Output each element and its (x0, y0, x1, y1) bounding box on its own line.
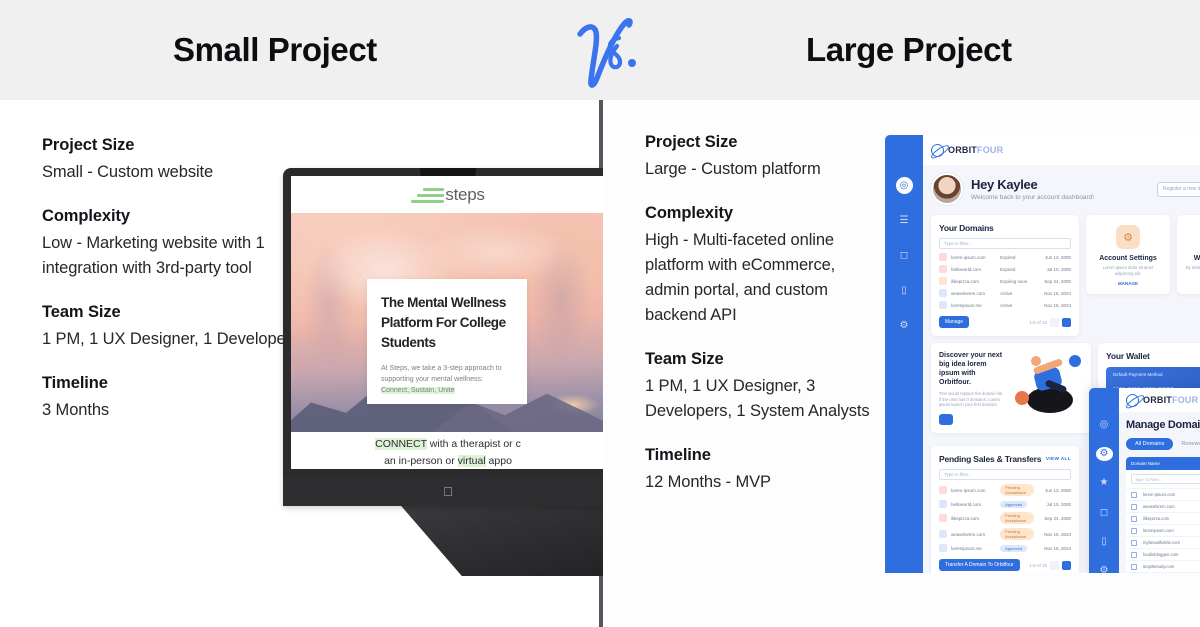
hero-paragraph: At Steps, we take a 3-step approach to s… (381, 363, 513, 396)
card-title: Your Domains (939, 223, 1071, 233)
manage-sidebar: ◎ ⚙ ★ ◻ ▯ ⚙ (1089, 388, 1119, 573)
domain-search-input[interactable]: Register a new domain (1157, 182, 1200, 197)
domain-status-icon (939, 544, 947, 552)
spec-label: Complexity (42, 207, 292, 226)
domain-date: Nov 16, 2024 (1038, 291, 1071, 296)
domain-date: Nov 16, 2024 (1038, 546, 1071, 551)
domain-name: weaselorem.com (1143, 504, 1200, 509)
tile-body: Lorem ipsum dolor sit amet adipiscing el… (1094, 265, 1162, 277)
table-row[interactable]: helloworld.com Expired Jul 10, 2000 (939, 265, 1071, 273)
table-row[interactable]: foodiebloggen.comPending Exp (1126, 548, 1200, 560)
brand-name-primary: ORBIT (1143, 395, 1172, 405)
your-domains-card: Your Domains Type to filter... lorem-ips… (931, 215, 1079, 336)
table-row[interactable]: ilikepizza.com Pending Acceptance Sep 24… (939, 512, 1071, 524)
domain-status-icon (939, 486, 947, 494)
row-checkbox[interactable] (1131, 540, 1137, 546)
manage-button[interactable]: Manage (939, 316, 969, 328)
table-row[interactable]: lorem-ipsum.com Pending Acceptance Jun 1… (939, 484, 1071, 496)
table-row[interactable]: mybeautifulsite.comActive (1126, 536, 1200, 548)
pagination: 1-5 of 10 (1029, 561, 1071, 570)
domain-name: weaselorem.com (951, 291, 996, 296)
dashboard-mockup: ◎ ☰ ◻ ▯ ⚙ ORBITFOUR (885, 135, 1200, 573)
table-row[interactable]: loremipsum.me Active Nov 16, 2024 (939, 301, 1071, 309)
row-checkbox[interactable] (1131, 552, 1137, 558)
lower-line2-a: an in-person or (384, 455, 458, 467)
domain-date: Jun 12, 2000 (1038, 255, 1071, 260)
spec-block-team-size: Team Size 1 PM, 1 UX Designer, 3 Develop… (645, 350, 875, 424)
gear-icon[interactable]: ⚙ (1096, 447, 1113, 460)
imac-screen: steps The Mental Wellness Platform For C… (291, 176, 605, 469)
row-checkbox[interactable] (1131, 528, 1137, 534)
spec-label: Team Size (645, 350, 875, 369)
domain-name: ilikepizza.com (1143, 516, 1200, 521)
site-hero: The Mental Wellness Platform For College… (291, 213, 605, 432)
brand-name-secondary: FOUR (1172, 395, 1198, 405)
site-lower-section: CONNECT with a therapist or c an in-pers… (291, 432, 605, 469)
domain-status-icon (939, 265, 947, 273)
greeting-row: Hey Kaylee Welcome back to your account … (931, 173, 1200, 205)
name-filter-input[interactable]: Type To Filter... (1131, 474, 1200, 484)
domain-name: ilikepizza.com (951, 279, 996, 284)
spec-value: 1 PM, 1 UX Designer, 1 Developer (42, 327, 292, 352)
status-badge: Pending Acceptance (1000, 484, 1034, 496)
domain-name: lorem-ipsum.com (951, 488, 996, 493)
table-row[interactable]: helloworld.com Approved Jul 10, 2000 (939, 500, 1071, 508)
domain-status: Expiring soon (1000, 279, 1034, 284)
chat-icon[interactable]: ◻ (1096, 506, 1113, 519)
promo-cta-button[interactable] (939, 414, 953, 425)
domain-date: Nov 16, 2024 (1038, 532, 1071, 537)
tile-body: By default, domain privacy is turned off… (1185, 265, 1200, 277)
table-row[interactable]: loremipsum.me Approved Nov 16, 2024 (939, 544, 1071, 552)
blue-ball-shape (1069, 355, 1081, 367)
domain-status-icon (939, 253, 947, 261)
imac-stand (393, 504, 608, 576)
imac-mockup: steps The Mental Wellness Platform For C… (283, 168, 613, 582)
domain-status-icon (939, 530, 947, 538)
orange-ball-shape (1015, 391, 1029, 405)
view-all-link[interactable]: VIEW ALL (1046, 457, 1071, 462)
domain-name: lorem-ipsum.com (1143, 492, 1200, 497)
manage-link[interactable]: MANAGE (1094, 281, 1162, 286)
tab-renewals[interactable]: Renewals (1181, 441, 1200, 447)
spec-label: Team Size (42, 303, 292, 322)
domain-name: ilikepizza.com (951, 516, 996, 521)
hero-heading: The Mental Wellness Platform For College… (381, 293, 513, 353)
spec-value: Low - Marketing website with 1 integrati… (42, 231, 292, 281)
large-project-title: Large Project (806, 31, 1012, 69)
status-badge: Approved (1000, 545, 1027, 552)
apple-logo-icon:  (443, 485, 453, 498)
spec-block-project-size: Project Size Large - Custom platform (645, 133, 875, 182)
card-footer: Transfer A Domain To Orbitfour 1-5 of 10 (939, 559, 1071, 571)
card-title: Your Wallet (1106, 351, 1200, 361)
spec-block-complexity: Complexity High - Multi-faceted online p… (645, 204, 875, 328)
row-checkbox[interactable] (1131, 492, 1137, 498)
table-row[interactable]: weaselorem.comActive (1126, 500, 1200, 512)
next-page-button[interactable] (1062, 561, 1071, 570)
manage-domains-table: Domain Name Status Type To Filter... Fil… (1126, 457, 1200, 573)
wheel-shape (1027, 387, 1073, 413)
status-badge: Pending Acceptance (1000, 528, 1034, 540)
domain-status-icon (939, 277, 947, 285)
domain-status: Expired (1000, 255, 1034, 260)
imac-chin:  (283, 477, 613, 506)
virtual-highlight: virtual (458, 455, 486, 467)
greeting-title: Hey Kaylee (971, 177, 1094, 192)
steps-logo: steps (411, 185, 484, 205)
small-project-column: Project Size Small - Custom website Comp… (0, 100, 599, 627)
pending-sales-card: Pending Sales & Transfers VIEW ALL Type … (931, 446, 1079, 573)
prev-page-button[interactable] (1050, 318, 1059, 327)
cyclist-illustration (1009, 351, 1083, 413)
domain-status-icon (939, 500, 947, 508)
dashboard-sidebar: ◎ ☰ ◻ ▯ ⚙ (885, 135, 923, 573)
spec-label: Complexity (645, 204, 875, 223)
pagination-label: 1-5 of 10 (1029, 320, 1047, 325)
user-avatar (931, 173, 963, 205)
hero-paragraph-line1: At Steps, we take a 3-step approach to (381, 365, 502, 372)
chat-icon[interactable]: ◻ (896, 247, 913, 264)
dashboard-icon[interactable]: ◎ (896, 177, 913, 194)
manage-link[interactable]: MANAGE (1185, 281, 1200, 286)
tab-all-domains[interactable]: All Domains (1126, 438, 1173, 450)
steps-logo-word: steps (445, 185, 484, 205)
globe-icon[interactable]: ★ (1096, 477, 1113, 490)
spec-label: Timeline (42, 374, 292, 393)
spec-value: 3 Months (42, 398, 292, 423)
domain-date: Jul 10, 2000 (1038, 502, 1071, 507)
comparison-page: Small Project Large Project Project Size… (0, 0, 1200, 627)
table-row[interactable]: stopitsready.comActive (1126, 560, 1200, 572)
manage-content: Manage Domains All Domains Renewals Tran… (1119, 412, 1200, 573)
domain-name: foodiebloggen.com (1143, 552, 1200, 557)
domains-filter-input[interactable]: Type to filter... (939, 238, 1071, 249)
orbit-ring-icon (929, 142, 945, 158)
table-filters: Type To Filter... Filter (1126, 470, 1200, 488)
domain-date: Sep 24, 2000 (1038, 279, 1071, 284)
domain-name: stopitsready.com (1143, 564, 1200, 569)
small-project-title: Small Project (173, 31, 377, 69)
pagination: 1-5 of 10 (1029, 318, 1071, 327)
hero-highlights: Connect, Sustain, Unite (381, 387, 455, 394)
connect-highlight: CONNECT (375, 438, 427, 450)
large-project-specs: Project Size Large - Custom platform Com… (645, 133, 875, 495)
table-row[interactable]: loremipsum.comExpiring Soon (1126, 524, 1200, 536)
stairs-icon (411, 188, 445, 205)
domain-name: loremipsum.me (951, 303, 996, 308)
row-checkbox[interactable] (1131, 564, 1137, 570)
vs-script-icon (566, 8, 646, 92)
spec-value: High - Multi-faceted online platform wit… (645, 228, 875, 328)
small-project-specs: Project Size Small - Custom website Comp… (42, 136, 292, 423)
card-footer: Manage 1-5 of 10 (939, 316, 1071, 328)
greeting-subtitle: Welcome back to your account dashboard! (971, 194, 1094, 201)
spec-block-timeline: Timeline 3 Months (42, 374, 292, 423)
status-badge: Approved (1000, 501, 1027, 508)
settings-icon[interactable]: ⚙ (1096, 565, 1113, 573)
rider-head-shape (1031, 356, 1041, 366)
domain-date: Sep 24, 2000 (1038, 516, 1071, 521)
imac-bezel: steps The Mental Wellness Platform For C… (283, 168, 613, 506)
spec-label: Timeline (645, 446, 875, 465)
pending-filter-input[interactable]: Type to filter... (939, 469, 1071, 480)
wallet-icon[interactable]: ▯ (1096, 535, 1113, 548)
manage-domains-window: ◎ ⚙ ★ ◻ ▯ ⚙ ORBITFOUR Manage (1089, 388, 1200, 573)
dashboard-window: ◎ ☰ ◻ ▯ ⚙ ORBITFOUR (885, 135, 1200, 573)
domain-status: Active (1000, 291, 1034, 296)
orbitfour-logo[interactable]: ORBITFOUR (931, 144, 1003, 157)
dashboard-icon[interactable]: ◎ (1096, 418, 1113, 431)
spec-block-complexity: Complexity Low - Marketing website with … (42, 207, 292, 281)
domain-name: helloworld.com (951, 267, 996, 272)
tile-title: Whois Settings (1185, 255, 1200, 262)
table-row[interactable]: weaselorem.com Active Nov 16, 2024 (939, 289, 1071, 297)
promo-body: This would replace the domain list if th… (939, 391, 1005, 408)
domain-name: mybeautifulsite.com (1143, 540, 1200, 545)
domain-date: Jun 12, 2000 (1038, 488, 1071, 493)
dashboard-grid-top: Your Domains Type to filter... lorem-ips… (931, 215, 1200, 336)
table-row[interactable]: lorem-ipsum.com Expired Jun 12, 2000 (939, 253, 1071, 261)
column-domain-name: Domain Name (1131, 461, 1200, 466)
spec-label: Project Size (645, 133, 875, 152)
domain-name: loremipsum.me (951, 546, 996, 551)
status-badge: Pending Acceptance (1000, 512, 1034, 524)
domain-status-icon (939, 289, 947, 297)
dashboard-topbar: ORBITFOUR (923, 135, 1200, 165)
list-icon[interactable]: ☰ (896, 212, 913, 229)
site-navbar: steps (291, 176, 605, 213)
gear-icon: ⚙ (1116, 225, 1140, 249)
wallet-icon[interactable]: ▯ (896, 282, 913, 299)
domain-status-icon (939, 514, 947, 522)
domain-name: loremipsum.com (1143, 528, 1200, 533)
spec-value: Large - Custom platform (645, 157, 875, 182)
transfer-domain-button[interactable]: Transfer A Domain To Orbitfour (939, 559, 1020, 571)
whois-settings-tile[interactable]: 👁 Whois Settings By default, domain priv… (1177, 215, 1200, 294)
manage-topbar: ORBITFOUR (1119, 388, 1200, 412)
spec-block-team-size: Team Size 1 PM, 1 UX Designer, 1 Develop… (42, 303, 292, 352)
table-row[interactable]: weaselorem.com Pending Acceptance Nov 16… (939, 528, 1071, 540)
row-checkbox[interactable] (1131, 516, 1137, 522)
domain-status-icon (939, 301, 947, 309)
orbitfour-logo[interactable]: ORBITFOUR (1126, 394, 1198, 407)
spec-block-timeline: Timeline 12 Months - MVP (645, 446, 875, 495)
spec-block-project-size: Project Size Small - Custom website (42, 136, 292, 185)
payment-method-label: Default Payment Method (1113, 372, 1163, 378)
brand-name-secondary: FOUR (977, 145, 1003, 155)
domain-name: weaselorem.com (951, 532, 996, 537)
table-row[interactable]: iamabletoexplore.comActive (1126, 572, 1200, 573)
manage-tabs: All Domains Renewals Transfers (1126, 438, 1200, 450)
promo-card: Discover your next big idea lorem ipsum … (931, 343, 1091, 433)
lower-line2-c: appo (486, 455, 512, 467)
next-page-button[interactable] (1062, 318, 1071, 327)
table-row[interactable]: ilikepizza.comActive (1126, 512, 1200, 524)
domain-date: Nov 16, 2024 (1038, 303, 1071, 308)
spec-label: Project Size (42, 136, 292, 155)
spec-value: 12 Months - MVP (645, 470, 875, 495)
spec-value: Small - Custom website (42, 160, 292, 185)
table-header: Domain Name Status (1126, 457, 1200, 470)
pagination-label: 1-5 of 10 (1029, 563, 1047, 568)
page-title: Manage Domains (1126, 419, 1200, 431)
table-row[interactable]: ilikepizza.com Expiring soon Sep 24, 200… (939, 277, 1071, 285)
orbit-ring-icon (1124, 392, 1140, 408)
prev-page-button[interactable] (1050, 561, 1059, 570)
row-checkbox[interactable] (1131, 504, 1137, 510)
gear-icon[interactable]: ⚙ (896, 317, 913, 334)
domain-status: Active (1000, 303, 1034, 308)
header-band: Small Project Large Project (0, 0, 1200, 100)
tile-title: Account Settings (1094, 255, 1162, 262)
domain-name: helloworld.com (951, 502, 996, 507)
spec-value: 1 PM, 1 UX Designer, 3 Developers, 1 Sys… (645, 374, 875, 424)
hero-paragraph-line2: supporting your mental wellness: (381, 376, 483, 383)
table-row[interactable]: lorem-ipsum.comActive (1126, 488, 1200, 500)
promo-title: Discover your next big idea lorem ipsum … (939, 351, 1005, 387)
lower-line1-rest: with a therapist or c (427, 438, 521, 450)
brand-name-primary: ORBIT (948, 145, 977, 155)
domain-status: Expired (1000, 267, 1034, 272)
site-lower-copy: CONNECT with a therapist or c an in-pers… (298, 436, 598, 469)
domain-name: lorem-ipsum.com (951, 255, 996, 260)
account-settings-tile[interactable]: ⚙ Account Settings Lorem ipsum dolor sit… (1086, 215, 1170, 294)
hero-copy-card: The Mental Wellness Platform For College… (367, 279, 527, 404)
domain-date: Jul 10, 2000 (1038, 267, 1071, 272)
card-title: Pending Sales & Transfers (939, 454, 1041, 464)
